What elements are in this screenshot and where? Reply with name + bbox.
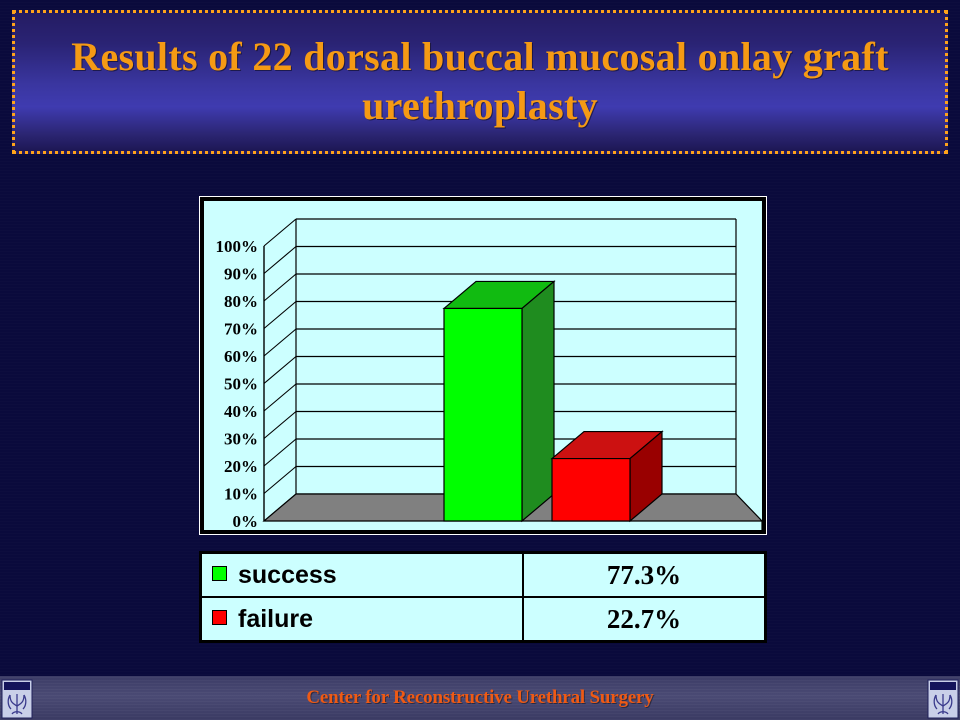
legend-swatch-success-icon — [212, 566, 227, 581]
column-icon — [0, 676, 34, 720]
legend-row-value-success: 77.3% — [523, 553, 766, 598]
depth-tick — [264, 357, 296, 384]
y-axis-tick-label: 80% — [224, 292, 258, 311]
bar-success-side-face — [522, 281, 554, 521]
depth-tick — [264, 329, 296, 356]
depth-tick — [264, 274, 296, 301]
legend-table: success 77.3% failure 22.7% — [199, 551, 767, 643]
depth-tick — [264, 247, 296, 274]
y-axis-tick-label: 20% — [224, 457, 258, 476]
legend-label-success: success — [238, 561, 337, 589]
y-axis-tick-label: 10% — [224, 485, 258, 504]
bar-failure — [552, 432, 662, 521]
column-icon — [926, 676, 960, 720]
y-axis-tick-label: 0% — [233, 512, 259, 530]
y-axis-tick-label: 60% — [224, 347, 258, 366]
slide-canvas: Results of 22 dorsal buccal mucosal onla… — [0, 0, 960, 720]
bar-success — [444, 281, 554, 521]
table-row: success 77.3% — [201, 553, 766, 598]
y-axis-tick-label: 70% — [224, 320, 258, 339]
bar-failure-front-face — [552, 459, 630, 521]
legend-row-value-failure: 22.7% — [523, 597, 766, 642]
footer-bar: Center for Reconstructive Urethral Surge… — [0, 676, 960, 720]
y-axis-tick-label: 90% — [224, 265, 258, 284]
chart-frame: 0%10%20%30%40%50%60%70%80%90%100% — [199, 196, 767, 535]
depth-tick — [264, 467, 296, 494]
y-axis-tick-label: 40% — [224, 402, 258, 421]
legend-row-name-failure: failure — [201, 597, 524, 642]
chart-plot-area: 0%10%20%30%40%50%60%70%80%90%100% — [204, 201, 762, 530]
depth-tick — [264, 219, 296, 246]
title-box: Results of 22 dorsal buccal mucosal onla… — [12, 10, 948, 154]
depth-tick — [264, 384, 296, 411]
legend-row-name-success: success — [201, 553, 524, 598]
chart-tick-lines — [264, 219, 296, 521]
y-axis-tick-label: 30% — [224, 430, 258, 449]
y-axis-tick-labels: 0%10%20%30%40%50%60%70%80%90%100% — [216, 237, 259, 530]
depth-tick — [264, 439, 296, 466]
footer-text: Center for Reconstructive Urethral Surge… — [306, 687, 653, 709]
legend-swatch-failure-icon — [212, 610, 227, 625]
legend-label-failure: failure — [238, 605, 313, 633]
bar-chart-3d: 0%10%20%30%40%50%60%70%80%90%100% — [204, 201, 762, 530]
page-title: Results of 22 dorsal buccal mucosal onla… — [15, 33, 945, 131]
bar-success-front-face — [444, 308, 522, 521]
depth-tick — [264, 302, 296, 329]
y-axis-tick-label: 100% — [216, 237, 259, 256]
table-row: failure 22.7% — [201, 597, 766, 642]
y-axis-tick-label: 50% — [224, 375, 258, 394]
depth-tick — [264, 412, 296, 439]
